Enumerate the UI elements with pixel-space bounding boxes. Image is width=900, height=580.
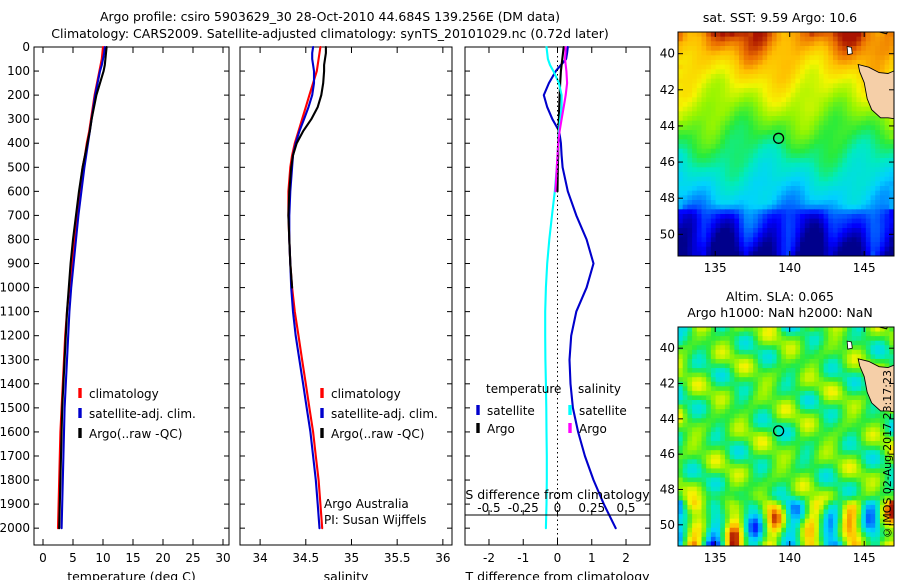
map-cell bbox=[861, 107, 866, 112]
map-cell bbox=[819, 523, 824, 528]
map-cell bbox=[697, 32, 702, 37]
map-cell bbox=[795, 359, 800, 364]
map-cell bbox=[809, 97, 814, 102]
map-cell bbox=[701, 359, 706, 364]
map-cell bbox=[856, 97, 861, 102]
sst-map[interactable]: 135140145-40-42-44-46-48-50 bbox=[660, 28, 898, 290]
map-cell bbox=[716, 181, 721, 186]
map-cell bbox=[856, 237, 861, 242]
map-cell bbox=[748, 427, 753, 432]
map-cell bbox=[748, 97, 753, 102]
map-cell bbox=[739, 144, 744, 149]
map-cell bbox=[795, 459, 800, 464]
map-cell bbox=[805, 395, 810, 400]
map-cell bbox=[819, 51, 824, 56]
map-cell bbox=[678, 405, 683, 410]
map-cell bbox=[871, 519, 876, 524]
map-cell bbox=[734, 172, 739, 177]
map-cell bbox=[777, 405, 782, 410]
map-cell bbox=[730, 359, 735, 364]
map-cell bbox=[875, 350, 880, 355]
map-cell bbox=[687, 186, 692, 191]
map-cell bbox=[805, 514, 810, 519]
map-cell bbox=[687, 532, 692, 537]
map-cell bbox=[720, 79, 725, 84]
map-cell bbox=[852, 368, 857, 373]
map-cell bbox=[852, 167, 857, 172]
map-cell bbox=[767, 41, 772, 46]
map-cell bbox=[701, 93, 706, 98]
map-cell bbox=[706, 186, 711, 191]
map-cell bbox=[748, 409, 753, 414]
map-cell bbox=[786, 158, 791, 163]
map-cell bbox=[720, 464, 725, 469]
map-cell bbox=[687, 382, 692, 387]
map-cell bbox=[748, 437, 753, 442]
map-cell bbox=[692, 359, 697, 364]
map-cell bbox=[748, 65, 753, 70]
map-cell bbox=[871, 46, 876, 51]
map-cell bbox=[842, 55, 847, 60]
map-cell bbox=[748, 354, 753, 359]
map-cell bbox=[795, 514, 800, 519]
map-cell bbox=[824, 149, 829, 154]
map-cell bbox=[781, 414, 786, 419]
map-cell bbox=[833, 519, 838, 524]
map-cell bbox=[838, 350, 843, 355]
map-cell bbox=[772, 532, 777, 537]
map-cell bbox=[866, 144, 871, 149]
map-cell bbox=[795, 195, 800, 200]
map-cell bbox=[725, 149, 730, 154]
map-cell bbox=[828, 537, 833, 542]
map-cell bbox=[763, 121, 768, 126]
map-cell bbox=[720, 223, 725, 228]
map-cell bbox=[809, 441, 814, 446]
map-cell bbox=[725, 368, 730, 373]
map-cell bbox=[805, 83, 810, 88]
map-cell bbox=[725, 32, 730, 37]
map-cell bbox=[852, 532, 857, 537]
map-cell bbox=[786, 242, 791, 247]
map-cell bbox=[842, 121, 847, 126]
map-cell bbox=[744, 167, 749, 172]
map-cell bbox=[748, 32, 753, 37]
map-cell bbox=[763, 177, 768, 182]
map-cell bbox=[753, 177, 758, 182]
map-cell bbox=[885, 130, 890, 135]
map-cell bbox=[838, 423, 843, 428]
map-cell bbox=[744, 523, 749, 528]
map-cell bbox=[678, 121, 683, 126]
map-cell bbox=[716, 377, 721, 382]
map-cell bbox=[805, 219, 810, 224]
map-cell bbox=[763, 209, 768, 214]
map-cell bbox=[861, 350, 866, 355]
map-cell bbox=[833, 41, 838, 46]
map-cell bbox=[805, 46, 810, 51]
map-cell bbox=[824, 205, 829, 210]
map-cell bbox=[819, 382, 824, 387]
map-cell bbox=[767, 200, 772, 205]
map-cell bbox=[772, 186, 777, 191]
map-cell bbox=[687, 455, 692, 460]
map-cell bbox=[861, 214, 866, 219]
map-cell bbox=[758, 437, 763, 442]
map-cell bbox=[814, 172, 819, 177]
map-cell bbox=[809, 391, 814, 396]
map-cell bbox=[697, 186, 702, 191]
map-cell bbox=[716, 111, 721, 116]
map-cell bbox=[871, 191, 876, 196]
map-cell bbox=[861, 459, 866, 464]
map-cell bbox=[734, 459, 739, 464]
map-cell bbox=[692, 247, 697, 252]
map-cell bbox=[805, 121, 810, 126]
map-cell bbox=[795, 482, 800, 487]
map-cell bbox=[875, 65, 880, 70]
map-cell bbox=[814, 65, 819, 70]
map-cell bbox=[842, 386, 847, 391]
map-cell bbox=[748, 405, 753, 410]
map-cell bbox=[875, 427, 880, 432]
map-cell bbox=[697, 74, 702, 79]
map-cell bbox=[758, 473, 763, 478]
map-cell bbox=[800, 432, 805, 437]
map-cell bbox=[711, 209, 716, 214]
map-cell bbox=[697, 149, 702, 154]
map-cell bbox=[720, 523, 725, 528]
map-cell bbox=[692, 88, 697, 93]
map-cell bbox=[795, 500, 800, 505]
map-cell bbox=[875, 139, 880, 144]
map-cell bbox=[781, 345, 786, 350]
map-cell bbox=[800, 158, 805, 163]
map-cell bbox=[734, 195, 739, 200]
map-cell bbox=[809, 418, 814, 423]
map-cell bbox=[767, 79, 772, 84]
map-cell bbox=[711, 116, 716, 121]
map-cell bbox=[748, 441, 753, 446]
map-cell bbox=[856, 79, 861, 84]
map-cell bbox=[730, 209, 735, 214]
map-cell bbox=[805, 427, 810, 432]
map-cell bbox=[795, 405, 800, 410]
map-cell bbox=[711, 167, 716, 172]
map-cell bbox=[781, 242, 786, 247]
map-cell bbox=[763, 205, 768, 210]
map-cell bbox=[711, 79, 716, 84]
map-cell bbox=[791, 423, 796, 428]
map-cell bbox=[683, 116, 688, 121]
map-cell bbox=[871, 247, 876, 252]
map-cell bbox=[838, 510, 843, 515]
map-cell bbox=[819, 528, 824, 533]
map-cell bbox=[734, 219, 739, 224]
map-cell bbox=[852, 491, 857, 496]
map-cell bbox=[814, 528, 819, 533]
map-cell bbox=[692, 97, 697, 102]
map-cell bbox=[781, 500, 786, 505]
map-cell bbox=[805, 69, 810, 74]
map-cell bbox=[847, 69, 852, 74]
map-cell bbox=[767, 83, 772, 88]
map-cell bbox=[809, 473, 814, 478]
map-cell bbox=[697, 102, 702, 107]
map-cell bbox=[819, 32, 824, 37]
map-cell bbox=[880, 205, 885, 210]
map-cell bbox=[805, 446, 810, 451]
map-cell bbox=[880, 219, 885, 224]
map-cell bbox=[805, 528, 810, 533]
map-cell bbox=[814, 116, 819, 121]
map-cell bbox=[777, 386, 782, 391]
map-cell bbox=[791, 237, 796, 242]
map-cell bbox=[711, 400, 716, 405]
map-cell bbox=[791, 65, 796, 70]
map-cell bbox=[711, 409, 716, 414]
map-cell bbox=[706, 65, 711, 70]
map-cell bbox=[692, 395, 697, 400]
map-cell bbox=[852, 386, 857, 391]
map-cell bbox=[838, 523, 843, 528]
map-cell bbox=[795, 341, 800, 346]
map-cell bbox=[847, 121, 852, 126]
map-cell bbox=[875, 186, 880, 191]
map-cell bbox=[828, 386, 833, 391]
map-cell bbox=[791, 69, 796, 74]
map-cell bbox=[706, 514, 711, 519]
map-cell bbox=[847, 153, 852, 158]
map-cell bbox=[814, 167, 819, 172]
map-cell bbox=[720, 37, 725, 42]
map-cell bbox=[706, 459, 711, 464]
map-cell bbox=[866, 149, 871, 154]
map-cell bbox=[866, 116, 871, 121]
map-cell bbox=[777, 41, 782, 46]
map-cell bbox=[763, 423, 768, 428]
legend-group-title: temperature bbox=[486, 382, 561, 396]
map-cell bbox=[697, 41, 702, 46]
map-cell bbox=[753, 125, 758, 130]
map-cell bbox=[767, 214, 772, 219]
map-cell bbox=[842, 205, 847, 210]
map-cell bbox=[678, 65, 683, 70]
map-cell bbox=[730, 191, 735, 196]
map-cell bbox=[791, 139, 796, 144]
map-cell bbox=[777, 409, 782, 414]
map-cell bbox=[730, 214, 735, 219]
map-cell bbox=[828, 478, 833, 483]
map-cell bbox=[692, 219, 697, 224]
map-cell bbox=[748, 395, 753, 400]
map-cell bbox=[824, 473, 829, 478]
map-cell bbox=[828, 205, 833, 210]
map-cell bbox=[838, 345, 843, 350]
map-cell bbox=[753, 446, 758, 451]
map-cell bbox=[880, 51, 885, 56]
map-cell bbox=[683, 228, 688, 233]
map-cell bbox=[753, 500, 758, 505]
map-cell bbox=[744, 532, 749, 537]
map-cell bbox=[842, 181, 847, 186]
map-cell bbox=[678, 237, 683, 242]
map-cell bbox=[856, 391, 861, 396]
map-cell bbox=[805, 247, 810, 252]
y-tick-label: 700 bbox=[7, 208, 30, 222]
map-cell bbox=[748, 368, 753, 373]
map-cell bbox=[763, 395, 768, 400]
map-cell bbox=[697, 83, 702, 88]
map-cell bbox=[866, 153, 871, 158]
map-cell bbox=[763, 409, 768, 414]
map-cell bbox=[767, 158, 772, 163]
map-cell bbox=[692, 167, 697, 172]
sla-map[interactable]: 135140145-40-42-44-46-48-50 bbox=[660, 323, 898, 580]
map-cell bbox=[852, 395, 857, 400]
map-cell bbox=[781, 158, 786, 163]
title-line-1: Argo profile: csiro 5903629_30 28-Oct-20… bbox=[0, 8, 660, 25]
map-cell bbox=[748, 455, 753, 460]
map-cell bbox=[711, 510, 716, 515]
map-cell bbox=[852, 464, 857, 469]
map-cell bbox=[786, 327, 791, 332]
map-cell bbox=[828, 125, 833, 130]
map-cell bbox=[730, 364, 735, 369]
map-cell bbox=[720, 88, 725, 93]
map-cell bbox=[772, 88, 777, 93]
map-cell bbox=[814, 191, 819, 196]
map-cell bbox=[795, 496, 800, 501]
map-cell bbox=[852, 163, 857, 168]
map-cell bbox=[777, 482, 782, 487]
map-cell bbox=[847, 41, 852, 46]
map-cell bbox=[795, 373, 800, 378]
map-cell bbox=[781, 487, 786, 492]
map-cell bbox=[692, 51, 697, 56]
map-cell bbox=[809, 537, 814, 542]
map-cell bbox=[819, 345, 824, 350]
map-cell bbox=[856, 532, 861, 537]
map-cell bbox=[767, 332, 772, 337]
map-cell bbox=[678, 116, 683, 121]
map-cell bbox=[781, 441, 786, 446]
map-cell bbox=[875, 473, 880, 478]
map-cell bbox=[767, 233, 772, 238]
map-cell bbox=[730, 345, 735, 350]
map-cell bbox=[814, 41, 819, 46]
map-cell bbox=[701, 478, 706, 483]
map-cell bbox=[730, 65, 735, 70]
map-cell bbox=[880, 359, 885, 364]
map-cell bbox=[706, 74, 711, 79]
map-cell bbox=[852, 107, 857, 112]
map-cell bbox=[786, 427, 791, 432]
map-cell bbox=[763, 327, 768, 332]
map-cell bbox=[683, 459, 688, 464]
map-cell bbox=[711, 51, 716, 56]
map-cell bbox=[795, 242, 800, 247]
map-cell bbox=[861, 111, 866, 116]
map-cell bbox=[767, 65, 772, 70]
map-cell bbox=[828, 532, 833, 537]
map-cell bbox=[767, 205, 772, 210]
map-cell bbox=[861, 153, 866, 158]
map-cell bbox=[871, 214, 876, 219]
map-cell bbox=[763, 377, 768, 382]
map-cell bbox=[706, 135, 711, 140]
map-cell bbox=[720, 386, 725, 391]
map-cell bbox=[842, 487, 847, 492]
map-cell bbox=[739, 69, 744, 74]
map-cell bbox=[758, 172, 763, 177]
map-cell bbox=[885, 354, 890, 359]
map-cell bbox=[725, 214, 730, 219]
map-cell bbox=[833, 153, 838, 158]
map-cell bbox=[800, 332, 805, 337]
map-cell bbox=[744, 219, 749, 224]
map-cell bbox=[828, 345, 833, 350]
map-cell bbox=[678, 364, 683, 369]
map-cell bbox=[809, 32, 814, 37]
map-cell bbox=[720, 359, 725, 364]
map-cell bbox=[716, 359, 721, 364]
map-cell bbox=[772, 107, 777, 112]
map-cell bbox=[838, 139, 843, 144]
map-cell bbox=[720, 111, 725, 116]
map-cell bbox=[777, 468, 782, 473]
map-cell bbox=[772, 446, 777, 451]
map-cell bbox=[828, 88, 833, 93]
map-cell bbox=[767, 519, 772, 524]
map-cell bbox=[730, 74, 735, 79]
map-cell bbox=[866, 505, 871, 510]
map-cell bbox=[767, 181, 772, 186]
map-cell bbox=[683, 200, 688, 205]
map-cell bbox=[701, 505, 706, 510]
map-cell bbox=[814, 205, 819, 210]
map-cell bbox=[730, 237, 735, 242]
map-cell bbox=[819, 332, 824, 337]
map-cell bbox=[716, 491, 721, 496]
map-cell bbox=[875, 345, 880, 350]
map-cell bbox=[758, 400, 763, 405]
map-cell bbox=[725, 345, 730, 350]
map-cell bbox=[687, 478, 692, 483]
map-cell bbox=[739, 468, 744, 473]
map-cell bbox=[819, 496, 824, 501]
sla-title-line-1: Altim. SLA: 0.065 bbox=[660, 289, 900, 305]
map-cell bbox=[800, 382, 805, 387]
map-cell bbox=[777, 459, 782, 464]
map-cell bbox=[871, 523, 876, 528]
map-cell bbox=[739, 523, 744, 528]
map-cell bbox=[875, 478, 880, 483]
map-cell bbox=[781, 537, 786, 542]
map-cell bbox=[711, 65, 716, 70]
map-cell bbox=[725, 46, 730, 51]
map-cell bbox=[866, 233, 871, 238]
map-cell bbox=[744, 74, 749, 79]
map-cell bbox=[725, 107, 730, 112]
map-cell bbox=[748, 377, 753, 382]
map-cell bbox=[734, 209, 739, 214]
map-cell bbox=[748, 528, 753, 533]
map-cell bbox=[805, 74, 810, 79]
map-cell bbox=[791, 459, 796, 464]
map-cell bbox=[767, 125, 772, 130]
map-cell bbox=[734, 102, 739, 107]
